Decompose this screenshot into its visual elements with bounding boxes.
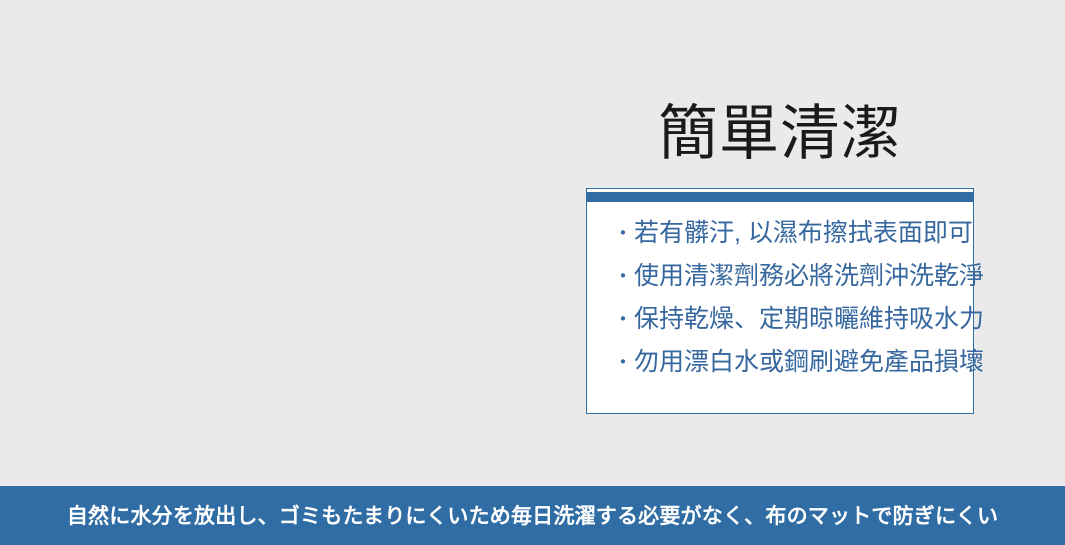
list-item-label: 勿用漂白水或鋼刷避免產品損壞 xyxy=(634,342,984,383)
instructions-list: ・ 若有髒汙, 以濕布擦拭表面即可 ・ 使用清潔劑務必將洗劑沖洗乾淨 ・ 保持乾… xyxy=(587,213,973,385)
list-item: ・ 若有髒汙, 以濕布擦拭表面即可 xyxy=(613,213,965,256)
bottom-banner: 自然に水分を放出し、ゴミもたまりにくいため毎日洗濯する必要がなく、布のマットで防… xyxy=(0,486,1065,545)
bullet-dot-icon: ・ xyxy=(613,300,633,341)
cleaning-instructions-callout: ・ 若有髒汙, 以濕布擦拭表面即可 ・ 使用清潔劑務必將洗劑沖洗乾淨 ・ 保持乾… xyxy=(586,188,974,414)
banner-text: 自然に水分を放出し、ゴミもたまりにくいため毎日洗濯する必要がなく、布のマットで防… xyxy=(67,502,998,530)
list-item-label: 保持乾燥、定期晾曬維持吸水力 xyxy=(634,299,984,340)
list-item: ・ 保持乾燥、定期晾曬維持吸水力 xyxy=(613,299,965,342)
bullet-dot-icon: ・ xyxy=(613,343,633,384)
list-item: ・ 勿用漂白水或鋼刷避免產品損壞 xyxy=(613,342,965,385)
bullet-dot-icon: ・ xyxy=(613,257,633,298)
list-item-label: 使用清潔劑務必將洗劑沖洗乾淨 xyxy=(634,256,984,297)
list-item: ・ 使用清潔劑務必將洗劑沖洗乾淨 xyxy=(613,256,965,299)
page-title: 簡單清潔 xyxy=(586,99,974,169)
bullet-dot-icon: ・ xyxy=(613,214,633,255)
list-item-label: 若有髒汙, 以濕布擦拭表面即可 xyxy=(634,213,973,254)
callout-accent-bar xyxy=(587,192,973,202)
product-image-area xyxy=(0,0,578,486)
slide-canvas: 簡單清潔 ・ 若有髒汙, 以濕布擦拭表面即可 ・ 使用清潔劑務必將洗劑沖洗乾淨 … xyxy=(0,0,1065,545)
